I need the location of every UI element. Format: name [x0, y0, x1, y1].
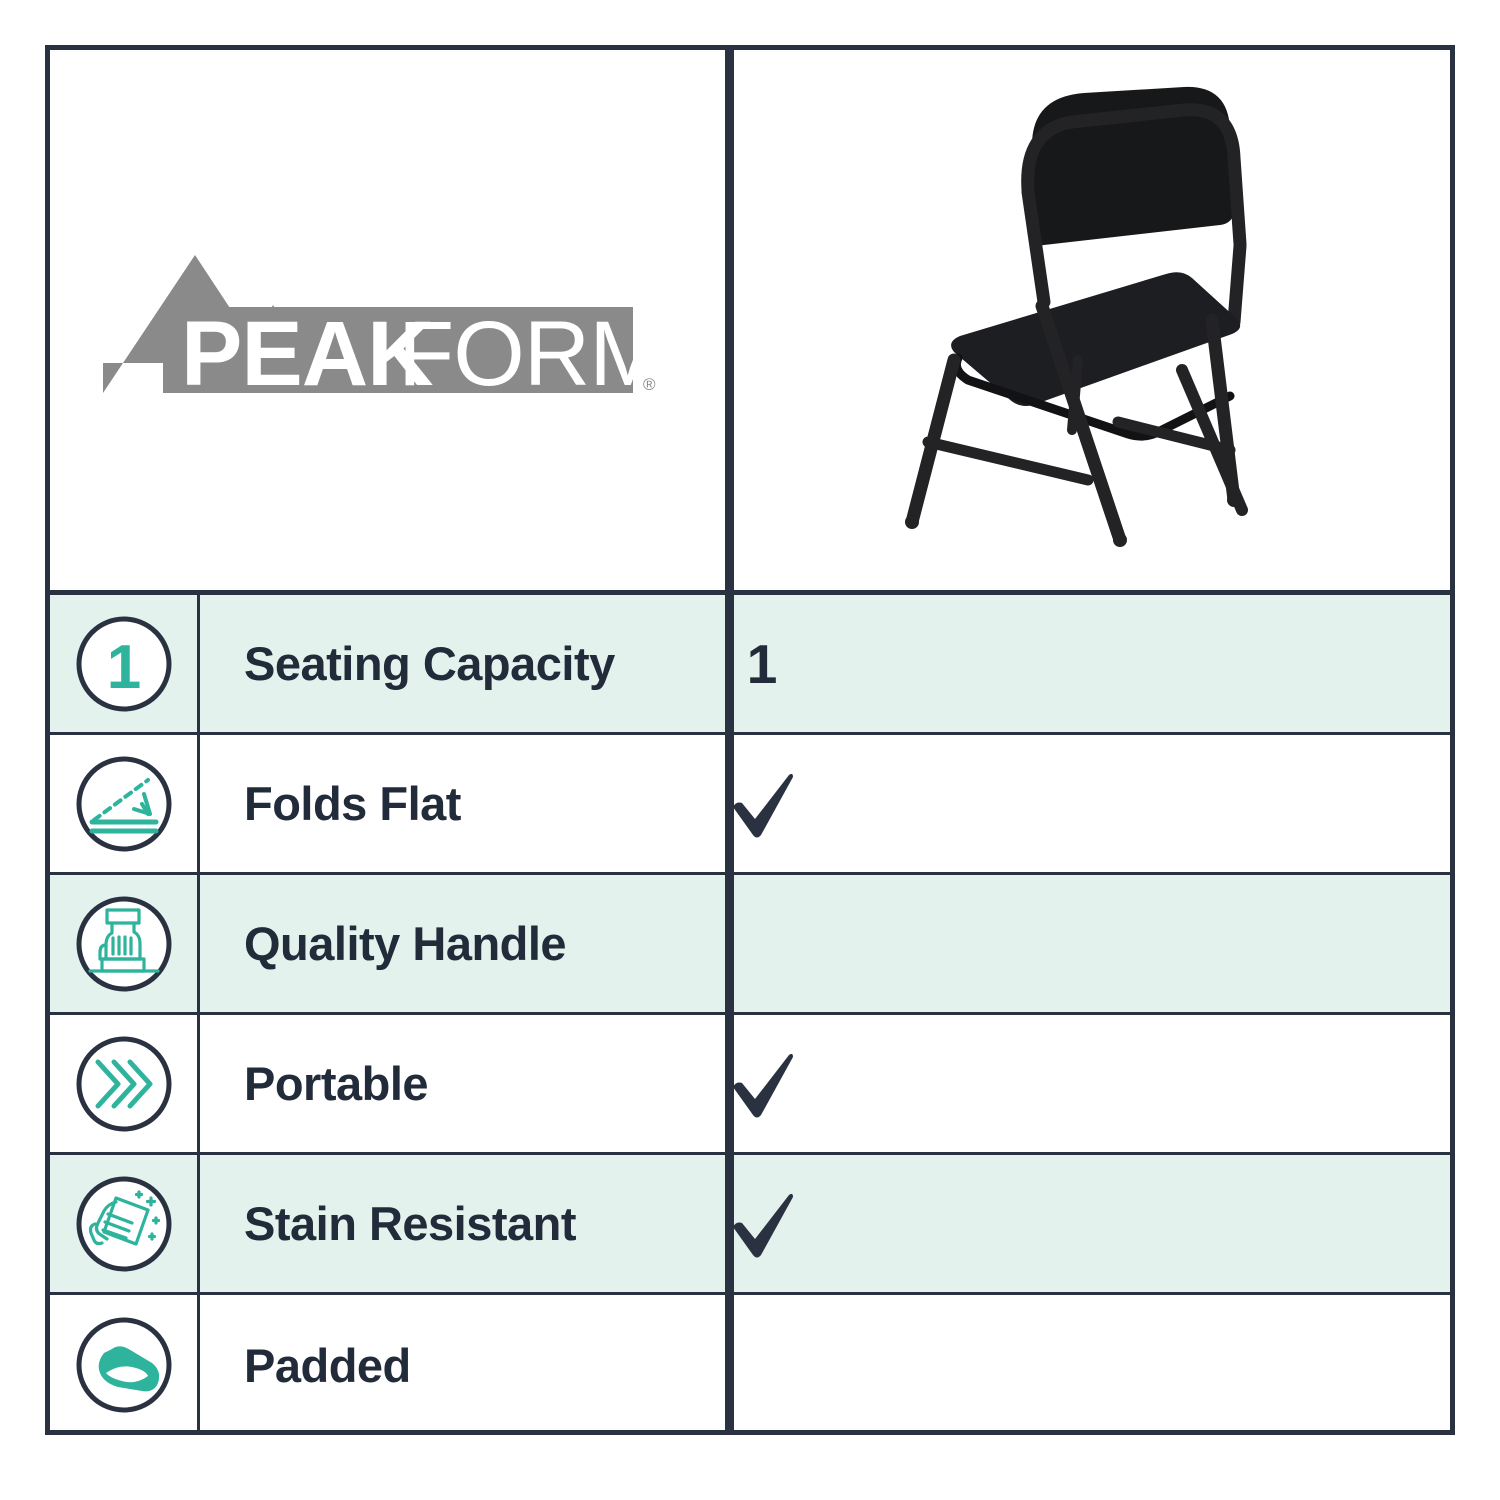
checkmark-icon [723, 1045, 801, 1123]
spec-value-empty [1092, 943, 1093, 944]
quality-handle-icon [72, 892, 176, 996]
folds-flat-icon [72, 752, 176, 856]
spec-label: Stain Resistant [244, 1196, 576, 1251]
brand-name-bold: PEAK [181, 303, 433, 395]
spec-row-padded: Padded [50, 1295, 725, 1435]
padded-cushion-icon [72, 1313, 176, 1417]
brand-logo-cell: PEAK FORM ® [50, 50, 725, 590]
spec-icon-cell [50, 735, 200, 872]
spec-value-row-stain-resistant [734, 1155, 1450, 1295]
spec-label-cell: Stain Resistant [200, 1155, 725, 1292]
spec-icon-cell: 1 [50, 595, 200, 732]
spec-label: Quality Handle [244, 916, 566, 971]
spec-value-row-padded [734, 1295, 1450, 1435]
spec-icon-cell [50, 1295, 200, 1435]
spec-label-cell: Seating Capacity [200, 595, 725, 732]
spec-value-number: 1 [747, 632, 778, 696]
spec-icon-cell [50, 875, 200, 1012]
icon-number-one-label: 1 [106, 633, 140, 702]
portable-chevrons-icon [72, 1032, 176, 1136]
spec-value-row-seating-capacity: 1 [734, 595, 1450, 735]
spec-label-cell: Portable [200, 1015, 725, 1152]
product-spec-sheet: PEAK FORM ® [0, 0, 1500, 1500]
checkmark-icon [723, 1185, 801, 1263]
spec-label: Padded [244, 1338, 411, 1393]
registered-trademark-icon: ® [643, 375, 656, 394]
spec-label-cell: Quality Handle [200, 875, 725, 1012]
spec-label: Portable [244, 1056, 428, 1111]
folding-chair-photo [882, 70, 1302, 570]
spec-label: Seating Capacity [244, 636, 615, 691]
spec-row-folds-flat: Folds Flat [50, 735, 725, 875]
spec-row-quality-handle: Quality Handle [50, 875, 725, 1015]
spec-value-row-folds-flat [734, 735, 1450, 875]
number-one-circle-icon: 1 [72, 612, 176, 716]
spec-label: Folds Flat [244, 776, 461, 831]
spec-table: PEAK FORM ® [45, 45, 1455, 1435]
spec-value-empty [1092, 1365, 1093, 1366]
spec-icon-cell [50, 1155, 200, 1292]
stain-resistant-icon [72, 1172, 176, 1276]
spec-row-portable: Portable [50, 1015, 725, 1155]
brand-name-light: FORM [398, 303, 665, 395]
product-image-cell [734, 50, 1450, 590]
spec-row-stain-resistant: Stain Resistant [50, 1155, 725, 1295]
spec-value-row-portable [734, 1015, 1450, 1155]
spec-label-cell: Padded [200, 1295, 725, 1435]
spec-icon-cell [50, 1015, 200, 1152]
checkmark-icon [723, 765, 801, 843]
spec-value-row-quality-handle [734, 875, 1450, 1015]
spec-label-cell: Folds Flat [200, 735, 725, 872]
mountain-peak-logo: PEAK FORM ® [103, 245, 673, 395]
spec-row-seating-capacity: 1 Seating Capacity [50, 595, 725, 735]
hero-row: PEAK FORM ® [50, 50, 1450, 595]
